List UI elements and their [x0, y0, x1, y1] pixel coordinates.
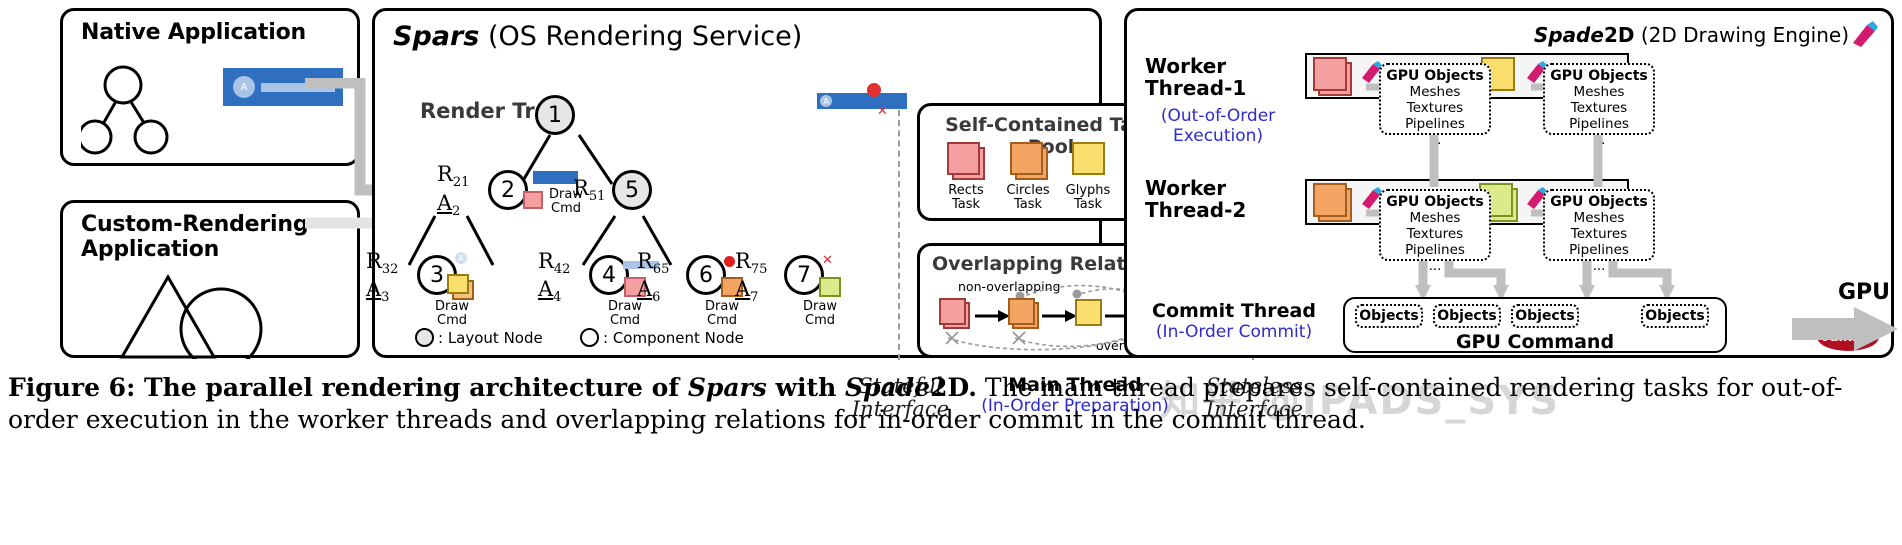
tree-node-3-rlabel: R32 — [366, 251, 398, 276]
figure-root: Native Application A Custom-Rendering Ap… — [0, 0, 1902, 545]
tree-node-2-draw-cmd-icon — [523, 191, 543, 209]
tree-node-7-close-icon: ✕ — [822, 254, 833, 267]
node-tree-icon — [81, 59, 196, 159]
caption-name2: Spade — [845, 373, 930, 402]
gpu-command-object-3: Objects — [1511, 304, 1579, 328]
legend-layout-node: : Layout Node — [415, 328, 543, 347]
overlap-item-circles-icon — [1008, 298, 1040, 330]
legend-component-node: : Component Node — [580, 328, 744, 347]
gpu-command-title: GPU Command — [1345, 331, 1725, 353]
overlap-item-rects-icon — [939, 298, 971, 330]
tree-node-1[interactable]: 1 — [535, 95, 575, 135]
tree-node-3-alabel: A3 — [366, 279, 389, 304]
caption-name1: Spars — [688, 373, 767, 402]
legend-component-circle-icon — [580, 328, 599, 347]
tree-node-3-draw-cmd-label: Draw Cmd — [424, 300, 480, 327]
stateful-interface-divider — [898, 110, 900, 360]
tree-node-6-rlabel: R65 — [637, 251, 669, 276]
tree-node-2[interactable]: 2 — [488, 170, 528, 210]
tree-node-2-alabel: A2 — [437, 193, 460, 218]
tree-node-7[interactable]: 7 — [784, 255, 824, 295]
gpu-command-object-1: Objects — [1355, 304, 1423, 328]
tree-node-7-rlabel: R75 — [735, 251, 767, 276]
avatar: A — [233, 76, 255, 98]
gpu-label: GPU — [1838, 280, 1890, 305]
caption-prefix: Figure 6: The parallel rendering archite… — [8, 373, 688, 402]
caption-mid: with — [767, 373, 845, 402]
gpu-command-panel: Objects Objects Objects Objects GPU Comm… — [1343, 297, 1727, 353]
gpu-command-object-2: Objects — [1433, 304, 1501, 328]
tree-node-3-draw-cmd-icon — [447, 274, 469, 294]
tree-node-6-dot-icon — [724, 256, 735, 267]
tree-node-7-alabel: A7 — [735, 279, 758, 304]
gpu-command-object-4: Objects — [1641, 304, 1709, 328]
task-glyphs-label: Glyphs Task — [1056, 184, 1120, 212]
tree-node-7-draw-cmd-label: Draw Cmd — [792, 300, 848, 327]
legend-layout-circle-icon — [415, 328, 434, 347]
task-glyphs-icon — [1072, 142, 1110, 180]
spade2d-panel: Spade2D (2D Drawing Engine) Worker Threa… — [1124, 8, 1894, 358]
tree-node-7-draw-cmd-icon — [819, 277, 841, 297]
tree-node-2-widget — [533, 171, 578, 184]
commit-thread-title: Commit Thread — [1129, 301, 1339, 323]
task-circles-icon — [1010, 142, 1048, 180]
tree-node-4-rlabel: R42 — [538, 251, 570, 276]
tree-node-5-rlabel: R51 — [573, 178, 605, 203]
overlap-item-glyphs-icon — [1075, 299, 1107, 331]
tree-node-6-alabel: A6 — [637, 279, 660, 304]
tree-node-4-alabel: A4 — [538, 279, 561, 304]
native-application-title: Native Application — [81, 21, 306, 46]
gpu-arrow — [1790, 305, 1902, 355]
commit-thread-sub: (In-Order Commit) — [1129, 323, 1339, 343]
triangle-circle-icon — [118, 273, 298, 359]
legend-component-label: : Component Node — [603, 329, 744, 347]
task-rects-icon — [947, 142, 985, 180]
tree-node-2-rlabel: R21 — [437, 164, 469, 189]
caption-name2b: 2D. — [930, 373, 977, 402]
tree-node-3-badge: A — [455, 252, 467, 264]
tree-node-5[interactable]: 5 — [612, 170, 652, 210]
task-circles-label: Circles Task — [996, 184, 1060, 212]
tree-node-6[interactable]: 6 — [686, 255, 726, 295]
commit-thread-label: Commit Thread (In-Order Commit) — [1129, 301, 1339, 342]
figure-caption: Figure 6: The parallel rendering archite… — [8, 372, 1894, 436]
legend-layout-label: : Layout Node — [438, 329, 543, 347]
task-rects-label: Rects Task — [934, 184, 998, 212]
